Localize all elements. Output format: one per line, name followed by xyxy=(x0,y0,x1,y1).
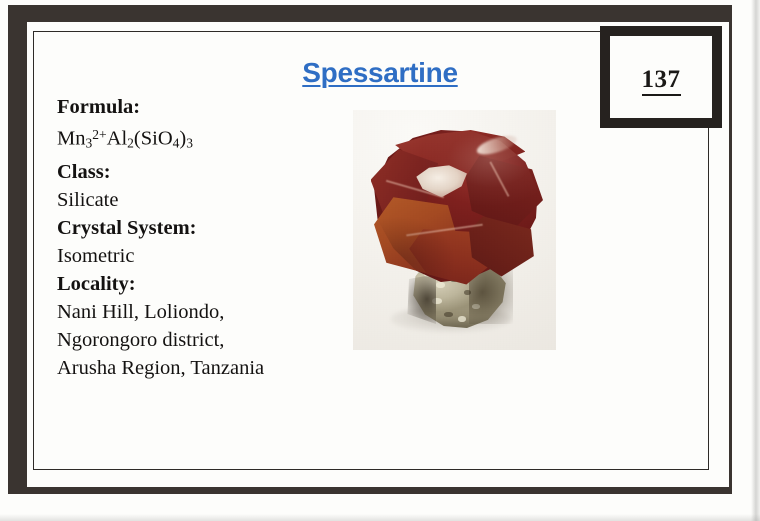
crystal-system-value: Isometric xyxy=(57,242,357,270)
formula-sio-open: (SiO xyxy=(134,128,173,150)
mineral-info-list: Formula: Mn32+Al2(SiO4)3 Class: Silicate… xyxy=(57,93,357,382)
garnet-crystal xyxy=(367,130,543,290)
mineral-photograph xyxy=(353,110,556,350)
crystal-system-label: Crystal System: xyxy=(57,214,357,242)
locality-line-3: Arusha Region, Tanzania xyxy=(57,354,357,382)
formula-mn: Mn xyxy=(57,128,85,150)
class-value: Silicate xyxy=(57,186,357,214)
formula-al: Al xyxy=(107,128,128,150)
matrix-grain xyxy=(458,316,466,322)
scanned-page: Spessartine Formula: Mn32+Al2(SiO4)3 Cla… xyxy=(0,0,760,521)
formula-label: Formula: xyxy=(57,93,357,121)
matrix-grain xyxy=(444,312,453,317)
scan-edge-shadow-right xyxy=(751,0,760,521)
locality-label: Locality: xyxy=(57,270,357,298)
formula-al-subscript: 2 xyxy=(127,136,134,151)
scan-edge-shadow-bottom xyxy=(0,514,760,521)
formula-group-subscript: 3 xyxy=(186,136,193,151)
formula-mn-charge: 2+ xyxy=(92,127,106,142)
card-number: 137 xyxy=(610,66,712,94)
locality-line-2: Ngorongoro district, xyxy=(57,326,357,354)
class-label: Class: xyxy=(57,158,357,186)
card-number-text: 137 xyxy=(642,66,681,96)
formula-value: Mn32+Al2(SiO4)3 xyxy=(57,121,357,158)
locality-line-1: Nani Hill, Loliondo, xyxy=(57,298,357,326)
page-title: Spessartine xyxy=(265,57,495,89)
card-number-box: 137 xyxy=(600,26,722,128)
